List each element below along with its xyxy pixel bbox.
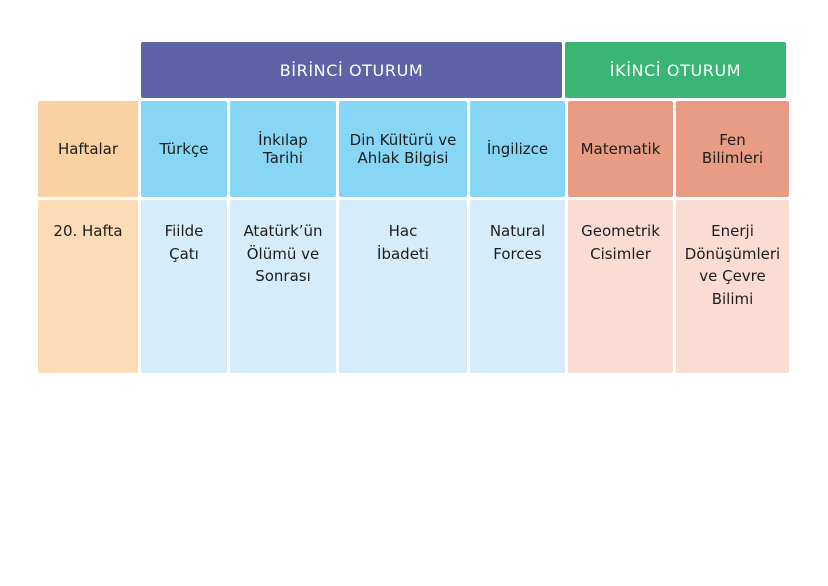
session-row-spacer: [38, 42, 138, 98]
cell-inkilap-tarihi-text: Atatürk’ün Ölümü ve Sonrası: [243, 220, 322, 288]
cell-din-kulturu: Hac İbadeti: [339, 200, 467, 373]
cell-week-label-text: 20. Hafta: [53, 220, 122, 243]
cell-inkilap-tarihi: Atatürk’ün Ölümü ve Sonrası: [230, 200, 336, 373]
cell-ingilizce-text: Natural Forces: [490, 220, 545, 265]
cell-turkce: Fiilde Çatı: [141, 200, 227, 373]
column-header-din-kulturu: Din Kültürü ve Ahlak Bilgisi: [339, 101, 467, 197]
session-header-birinci-oturum-label: BİRİNCİ OTURUM: [280, 61, 424, 80]
session-header-birinci-oturum: BİRİNCİ OTURUM: [141, 42, 562, 98]
column-header-haftalar-label: Haftalar: [58, 140, 118, 158]
column-header-turkce: Türkçe: [141, 101, 227, 197]
column-header-haftalar: Haftalar: [38, 101, 138, 197]
column-header-row: Haftalar Türkçe İnkılap Tarihi Din Kültü…: [38, 101, 786, 197]
weekly-schedule-table: BİRİNCİ OTURUM İKİNCİ OTURUM Haftalar Tü…: [38, 42, 786, 373]
cell-din-kulturu-text: Hac İbadeti: [377, 220, 429, 265]
column-header-matematik: Matematik: [568, 101, 673, 197]
table-row: 20. Hafta Fiilde Çatı Atatürk’ün Ölümü v…: [38, 200, 786, 373]
cell-matematik-text: Geometrik Cisimler: [581, 220, 660, 265]
session-header-row: BİRİNCİ OTURUM İKİNCİ OTURUM: [38, 42, 786, 98]
cell-fen-bilimleri-text: Enerji Dönüşümleri ve Çevre Bilimi: [685, 220, 780, 310]
column-header-fen-bilimleri-label: Fen Bilimleri: [702, 131, 763, 167]
column-header-matematik-label: Matematik: [581, 140, 661, 158]
cell-turkce-text: Fiilde Çatı: [165, 220, 204, 265]
session-header-ikinci-oturum: İKİNCİ OTURUM: [565, 42, 786, 98]
session-header-ikinci-oturum-label: İKİNCİ OTURUM: [610, 61, 741, 80]
column-header-inkilap-tarihi: İnkılap Tarihi: [230, 101, 336, 197]
cell-week-label: 20. Hafta: [38, 200, 138, 373]
cell-ingilizce: Natural Forces: [470, 200, 565, 373]
column-header-din-kulturu-label: Din Kültürü ve Ahlak Bilgisi: [350, 131, 457, 167]
column-header-inkilap-tarihi-label: İnkılap Tarihi: [258, 131, 308, 167]
cell-fen-bilimleri: Enerji Dönüşümleri ve Çevre Bilimi: [676, 200, 789, 373]
cell-matematik: Geometrik Cisimler: [568, 200, 673, 373]
column-header-fen-bilimleri: Fen Bilimleri: [676, 101, 789, 197]
column-header-ingilizce-label: İngilizce: [487, 140, 548, 158]
column-header-turkce-label: Türkçe: [160, 140, 209, 158]
column-header-ingilizce: İngilizce: [470, 101, 565, 197]
